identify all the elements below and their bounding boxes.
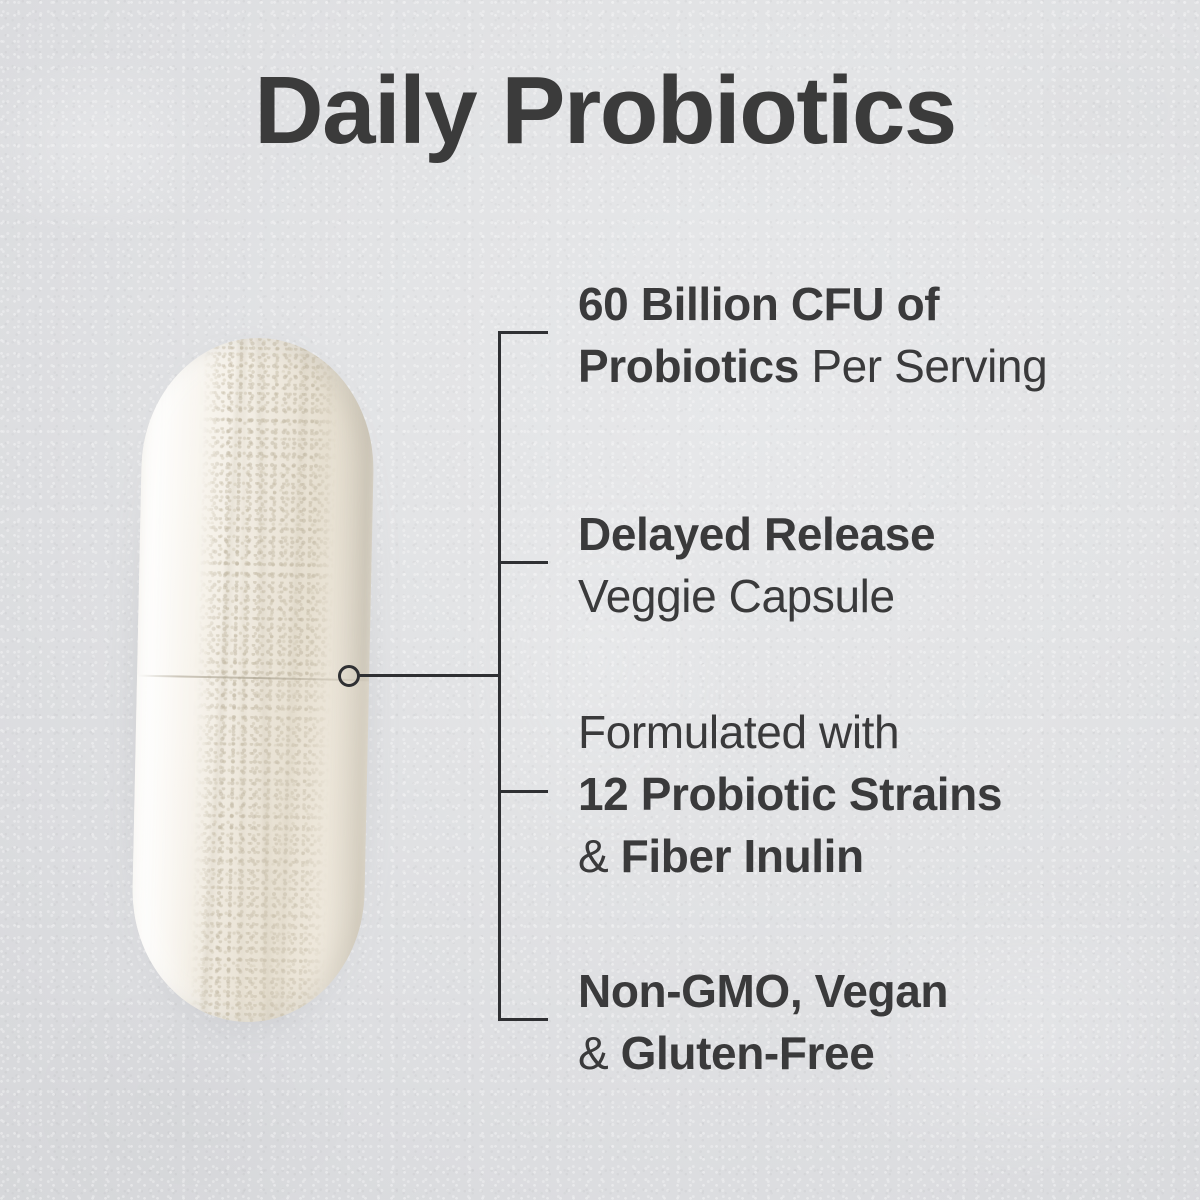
feature-text-regular: & (578, 1027, 621, 1079)
bracket-tick-1 (498, 331, 548, 334)
feature-line: & Fiber Inulin (578, 825, 1178, 887)
feature-text-bold: 12 Probiotic Strains (578, 768, 1002, 820)
feature-line: 12 Probiotic Strains (578, 763, 1178, 825)
feature-line: Non-GMO, Vegan (578, 960, 1178, 1022)
feature-text-bold: Fiber Inulin (621, 830, 864, 882)
feature-item-cfu: 60 Billion CFU of Probiotics Per Serving (578, 273, 1178, 397)
feature-text-regular: Formulated with (578, 706, 899, 758)
circle-marker-icon (338, 665, 360, 687)
feature-line: Veggie Capsule (578, 565, 1178, 627)
feature-line: Formulated with (578, 701, 1178, 763)
feature-item-delayed-release: Delayed Release Veggie Capsule (578, 503, 1178, 627)
feature-line: & Gluten-Free (578, 1022, 1178, 1084)
feature-text-bold: 60 Billion CFU of (578, 278, 939, 330)
feature-item-certifications: Non-GMO, Vegan & Gluten-Free (578, 960, 1178, 1084)
feature-line: Delayed Release (578, 503, 1178, 565)
capsule-lower-half (130, 675, 369, 1025)
feature-text-bold: Probiotics (578, 340, 799, 392)
feature-text-bold: Gluten-Free (621, 1027, 875, 1079)
feature-text-bold: Non-GMO, Vegan (578, 965, 948, 1017)
bracket-tick-3 (498, 790, 548, 793)
feature-text-bold: Delayed Release (578, 508, 935, 560)
feature-text-regular: Veggie Capsule (578, 570, 895, 622)
bracket-tick-4 (498, 1018, 548, 1021)
product-infographic: Daily Probiotics 60 Billion CFU of Probi… (0, 0, 1200, 1200)
feature-line: 60 Billion CFU of (578, 273, 1178, 335)
leader-line (359, 674, 501, 677)
feature-text-regular: & (578, 830, 621, 882)
feature-text-regular: Per Serving (799, 340, 1047, 392)
bracket-tick-2 (498, 561, 548, 564)
feature-line: Probiotics Per Serving (578, 335, 1178, 397)
bracket-line (498, 331, 501, 1021)
feature-item-strains: Formulated with 12 Probiotic Strains & F… (578, 701, 1178, 887)
page-title: Daily Probiotics (0, 63, 1200, 159)
